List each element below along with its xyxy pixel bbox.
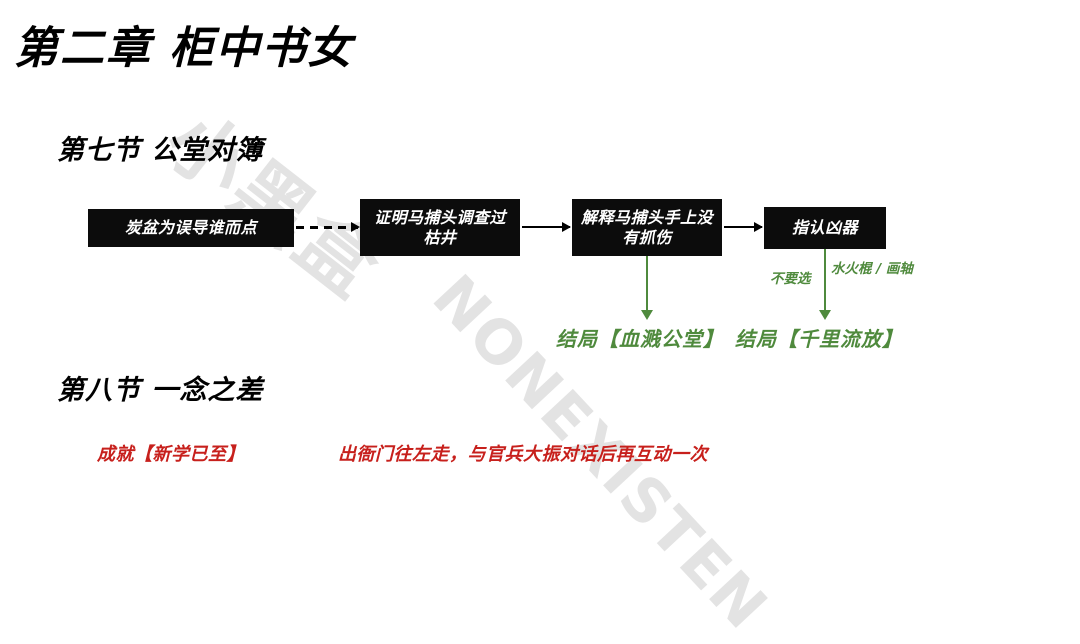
achievement-hint: 出衙门往左走，与官兵大振对话后再互动一次 [338,440,708,466]
edge-label-do-not-choose: 不要选 [770,270,811,288]
page-title: 第二章 柜中书女 [14,12,353,76]
connector-dashed-box1-box2 [296,226,358,229]
connector-branch-to-ending-one [646,256,648,312]
arrow-head-icon-box2 [351,222,360,232]
arrow-head-icon-box4 [754,222,763,232]
arrow-head-icon-ending-two [819,310,831,320]
edge-label-weapon-choice: 水火棍 / 画轴 [831,260,913,278]
section-title-eight: 第八节 一念之差 [57,368,263,407]
connector-branch-to-ending-two [824,249,826,312]
section-title-seven: 第七节 公堂对簿 [57,128,263,167]
flow-node-prove-well-investigation[interactable]: 证明马捕头调查过枯井 [360,199,520,256]
achievement-label: 成就【新学已至】 [97,440,245,466]
arrow-head-icon-box3 [562,222,571,232]
flow-node-identify-weapon[interactable]: 指认凶器 [764,207,886,249]
flow-node-explain-no-scratches[interactable]: 解释马捕头手上没有抓伤 [572,199,722,256]
arrow-head-icon-ending-one [641,310,653,320]
ending-blood-in-court: 结局【血溅公堂】 [556,323,724,352]
ending-exile-thousand-li: 结局【千里流放】 [735,323,903,352]
flow-node-charcoal-brazier[interactable]: 炭盆为误导谁而点 [88,209,294,247]
